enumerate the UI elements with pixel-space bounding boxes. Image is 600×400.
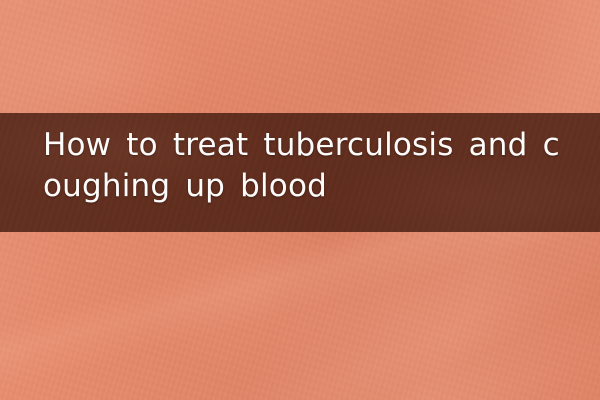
article-title-card: How to treat tuberculosis and coughing u… [0,0,600,400]
title-banner: How to treat tuberculosis and coughing u… [0,113,600,232]
page-title: How to treat tuberculosis and coughing u… [43,125,571,207]
